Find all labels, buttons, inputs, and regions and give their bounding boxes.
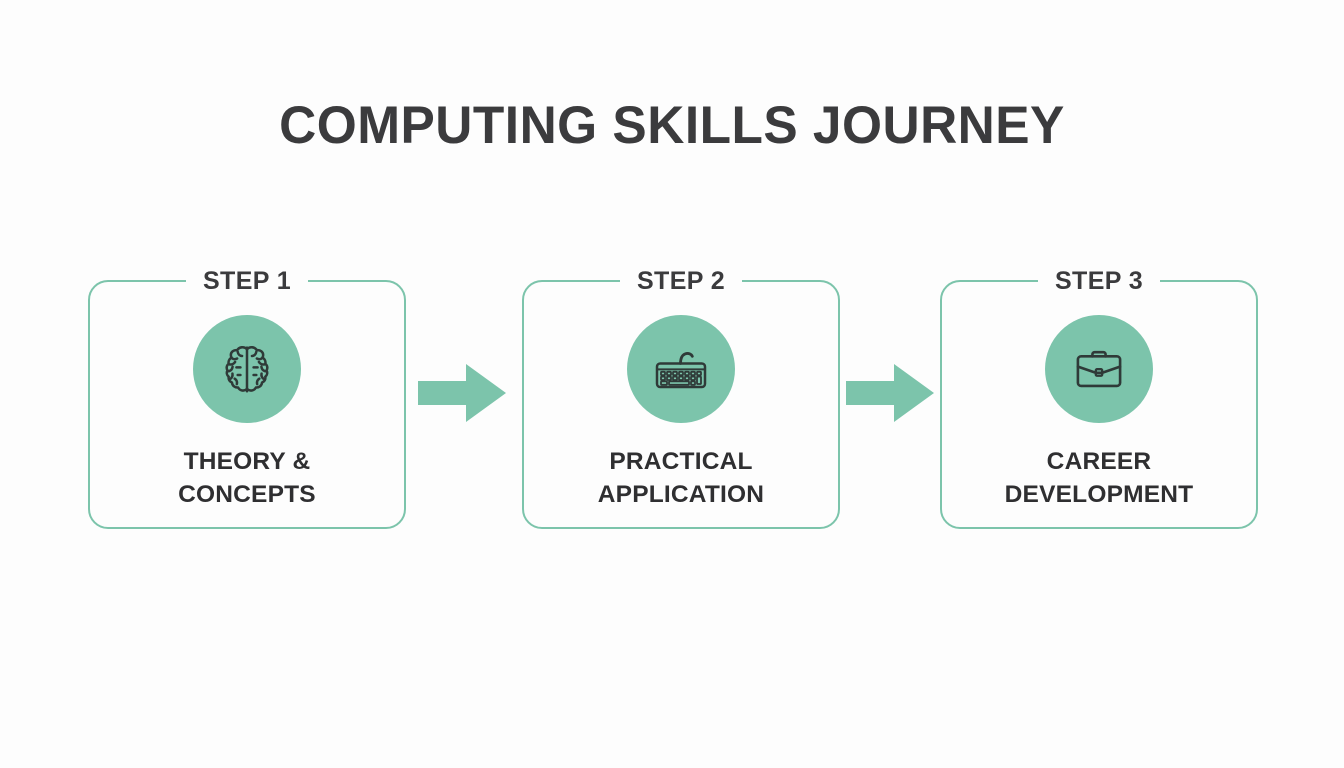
step-card-3[interactable]: CAREER DEVELOPMENT STEP 3 xyxy=(940,280,1258,529)
step-1-caption: THEORY & CONCEPTS xyxy=(90,445,404,511)
step-1-label: STEP 1 xyxy=(186,265,308,298)
step-2-icon-circle xyxy=(627,315,735,423)
step-card-1[interactable]: THEORY & CONCEPTS STEP 1 xyxy=(88,280,406,529)
step-2-label-wrap: STEP 2 xyxy=(524,265,838,298)
step-2-label: STEP 2 xyxy=(620,265,742,298)
infographic-canvas: COMPUTING SKILLS JOURNEY xyxy=(0,0,1344,768)
arrow-right-2 xyxy=(846,362,934,424)
keyboard-icon xyxy=(649,337,713,401)
arrow-right-1 xyxy=(418,362,506,424)
page-title: COMPUTING SKILLS JOURNEY xyxy=(20,98,1324,154)
briefcase-icon xyxy=(1069,339,1129,399)
steps-row: THEORY & CONCEPTS STEP 1 xyxy=(0,280,1344,530)
brain-icon xyxy=(216,338,278,400)
step-1-icon-circle xyxy=(193,315,301,423)
step-3-icon-circle xyxy=(1045,315,1153,423)
step-2-caption: PRACTICAL APPLICATION xyxy=(524,445,838,511)
step-card-2[interactable]: PRACTICAL APPLICATION STEP 2 xyxy=(522,280,840,529)
step-1-label-wrap: STEP 1 xyxy=(90,265,404,298)
step-3-label-wrap: STEP 3 xyxy=(942,265,1256,298)
step-3-caption: CAREER DEVELOPMENT xyxy=(942,445,1256,511)
step-3-label: STEP 3 xyxy=(1038,265,1160,298)
